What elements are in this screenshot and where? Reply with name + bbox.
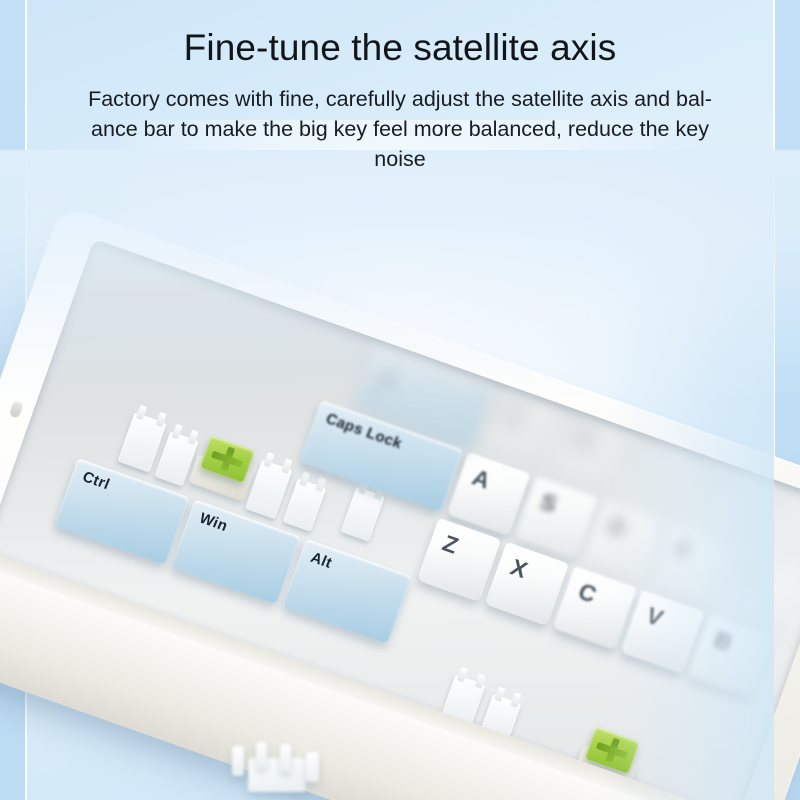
keycap-g[interactable]: G xyxy=(718,548,800,632)
keycap-label: T xyxy=(759,483,798,525)
keycap-label: Ctrl xyxy=(70,458,115,493)
keycap-label: X xyxy=(494,542,535,584)
keycap-alt[interactable]: Alt xyxy=(282,539,412,644)
keycap-label: Win xyxy=(186,500,232,535)
keycap-z[interactable]: Z xyxy=(417,518,501,602)
keycap-label: D xyxy=(592,500,634,542)
keycap-label: Alt xyxy=(298,539,338,572)
keycap-label: G xyxy=(727,548,770,591)
keycap-label: E xyxy=(623,435,664,477)
keycap-q[interactable]: Q xyxy=(478,387,562,471)
keycap-e[interactable]: E xyxy=(614,435,698,519)
keycap-label: V xyxy=(630,590,671,632)
page-title: Fine-tune the satellite axis xyxy=(26,24,774,72)
keycap-c[interactable]: C xyxy=(553,566,637,650)
keycap-label: Z xyxy=(426,518,465,560)
keycap-d[interactable]: D xyxy=(582,500,666,584)
keycap-b[interactable]: B xyxy=(688,614,772,698)
keycap-x[interactable]: X xyxy=(485,542,569,626)
loose-stabiliser-part xyxy=(222,742,334,800)
keycap-label: S xyxy=(524,476,565,518)
description-line: ance bar to make the big key feel more b… xyxy=(32,114,768,144)
product-marketing-image: QWERTASDFGZXCVB←|Tab|→Caps LockCtrlWinAl… xyxy=(0,0,800,800)
keycap-f[interactable]: F xyxy=(650,524,734,608)
page-description: Factory comes with fine, carefully adjus… xyxy=(26,84,774,174)
keyboard-photo: QWERTASDFGZXCVB←|Tab|→Caps LockCtrlWinAl… xyxy=(0,150,800,800)
keycap-win[interactable]: Win xyxy=(171,499,301,604)
keycap-label: Q xyxy=(488,387,531,430)
keycap-label: R xyxy=(691,459,733,501)
marketing-copy: Fine-tune the satellite axis Factory com… xyxy=(26,24,774,174)
keycap-a[interactable]: A xyxy=(447,452,531,536)
keycap-label: A xyxy=(456,452,498,494)
keycap-w[interactable]: W xyxy=(546,411,630,495)
stabiliser-housing xyxy=(245,459,293,519)
keycap-label: C xyxy=(562,566,604,608)
keycap-s[interactable]: S xyxy=(514,476,598,560)
stabiliser-housing xyxy=(341,487,385,542)
keycap-label: F xyxy=(660,524,699,566)
keycap-r[interactable]: R xyxy=(682,459,766,543)
keycap-v[interactable]: V xyxy=(620,590,704,674)
keycap-label: B xyxy=(698,614,740,656)
description-line: noise xyxy=(32,144,768,174)
description-line: Factory comes with fine, carefully adjus… xyxy=(32,84,768,114)
keyboard-body: QWERTASDFGZXCVB←|Tab|→Caps LockCtrlWinAl… xyxy=(0,204,800,800)
stabiliser-housing xyxy=(283,478,327,531)
tab-arrow-icon: ←|Tab|→ xyxy=(368,356,440,419)
keycap-label: W xyxy=(555,411,602,455)
